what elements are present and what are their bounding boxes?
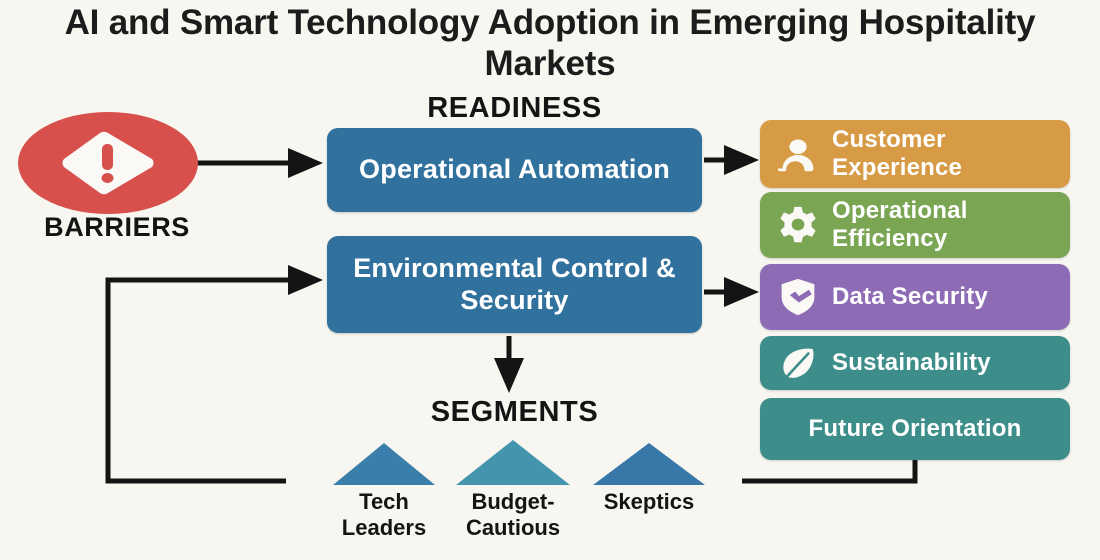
outcome-card-label: Operational Efficiency	[832, 197, 1070, 253]
barriers-label: BARRIERS	[8, 212, 226, 243]
feedback-loop-left	[108, 280, 316, 481]
outcome-card-label: Customer Experience	[832, 126, 1070, 182]
outcome-card-operational-efficiency[interactable]: Operational Efficiency	[760, 192, 1070, 258]
outcome-card-future-orientation[interactable]: Future Orientation	[760, 398, 1070, 460]
readiness-box-operational-automation[interactable]: Operational Automation	[327, 128, 702, 212]
readiness-box-label: Environmental Control & Security	[341, 253, 688, 317]
shield-check-icon	[776, 275, 820, 319]
gear-icon	[776, 203, 820, 247]
readiness-box-environmental-control[interactable]: Environmental Control & Security	[327, 236, 702, 333]
outcome-card-customer-experience[interactable]: Customer Experience	[760, 120, 1070, 188]
barriers-group[interactable]: BARRIERS	[8, 112, 228, 247]
segment-skeptics[interactable]: Skeptics	[593, 443, 705, 485]
outcome-card-label: Data Security	[832, 283, 988, 311]
segment-triangle	[456, 440, 570, 485]
feedback-loop-right	[742, 460, 915, 481]
outcome-card-data-security[interactable]: Data Security	[760, 264, 1070, 330]
outcome-card-sustainability[interactable]: Sustainability	[760, 336, 1070, 390]
segment-label: Skeptics	[577, 489, 721, 515]
segment-triangle	[593, 443, 705, 485]
diagram-canvas: AI and Smart Technology Adoption in Emer…	[0, 0, 1100, 560]
leaf-icon	[776, 341, 820, 385]
readiness-box-label: Operational Automation	[359, 154, 670, 186]
outcome-card-label: Sustainability	[832, 349, 991, 377]
readiness-header: READINESS	[327, 92, 702, 125]
segment-tech-leaders[interactable]: Tech Leaders	[333, 443, 435, 485]
alert-exclamation-icon	[60, 130, 156, 196]
segment-budget-cautious[interactable]: Budget- Cautious	[456, 440, 570, 485]
person-icon	[776, 132, 820, 176]
segment-label: Tech Leaders	[321, 489, 447, 541]
segment-label: Budget- Cautious	[444, 489, 582, 541]
segment-triangle	[333, 443, 435, 485]
segments-header: SEGMENTS	[327, 396, 702, 429]
outcome-card-label: Future Orientation	[809, 415, 1022, 443]
